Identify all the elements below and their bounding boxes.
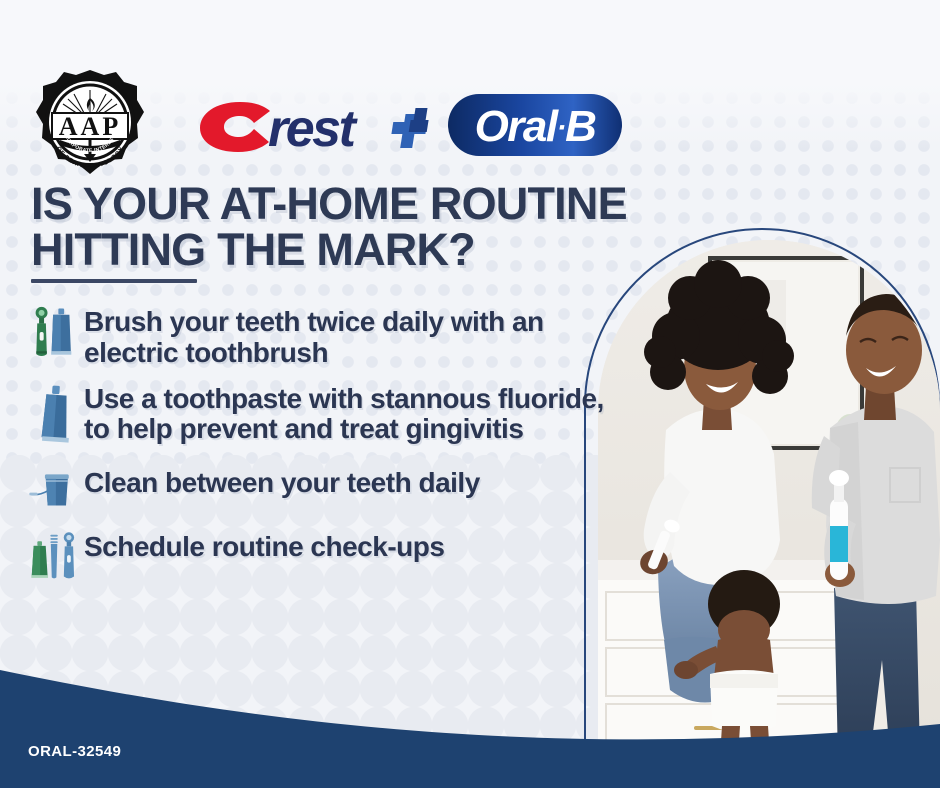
toothpaste-tube-icon — [26, 383, 84, 449]
footer-code: ORAL-32549 — [28, 743, 121, 760]
list-item-label: Schedule routine check-ups — [84, 531, 444, 563]
svg-text:rest: rest — [268, 100, 359, 158]
toothpaste-toothbrush-electric-brush-icon — [26, 531, 84, 583]
list-item-label: Clean between your teeth daily — [84, 467, 480, 499]
headline-divider — [31, 279, 197, 283]
list-item: Clean between your teeth daily — [26, 467, 626, 511]
list-item: Brush your teeth twice daily with an ele… — [26, 306, 626, 369]
oral-b-wordmark: Oral·B — [448, 94, 622, 156]
footer-wave — [0, 628, 940, 788]
routine-checklist: Brush your teeth twice daily with an ele… — [26, 306, 626, 583]
list-item: Use a toothpaste with stannous fluoride,… — [26, 383, 626, 449]
poster-root: AAP THE AMERICAN ACADEMY OF PERIODONTOLO… — [0, 0, 940, 788]
headline-line-2: HITTING THE MARK? — [31, 227, 681, 273]
plus-icon — [391, 108, 428, 148]
list-item-label: Brush your teeth twice daily with an ele… — [84, 306, 626, 369]
electric-toothbrush-and-toothpaste-icon — [26, 306, 84, 360]
list-item-label: Use a toothpaste with stannous fluoride,… — [84, 383, 626, 446]
page-title: IS YOUR AT-HOME ROUTINE HITTING THE MARK… — [31, 181, 681, 274]
list-item: Schedule routine check-ups — [26, 531, 626, 583]
logo-row: AAP THE AMERICAN ACADEMY OF PERIODONTOLO… — [0, 30, 940, 140]
crest-wordmark: rest — [200, 100, 359, 158]
aap-seal-logo: AAP THE AMERICAN ACADEMY OF PERIODONTOLO… — [34, 68, 146, 176]
headline-line-1: IS YOUR AT-HOME ROUTINE — [31, 178, 627, 229]
dental-floss-icon — [26, 467, 84, 511]
crest-oral-b-logo: rest Oral·B — [182, 86, 622, 164]
svg-text:Oral·B: Oral·B — [475, 102, 597, 151]
